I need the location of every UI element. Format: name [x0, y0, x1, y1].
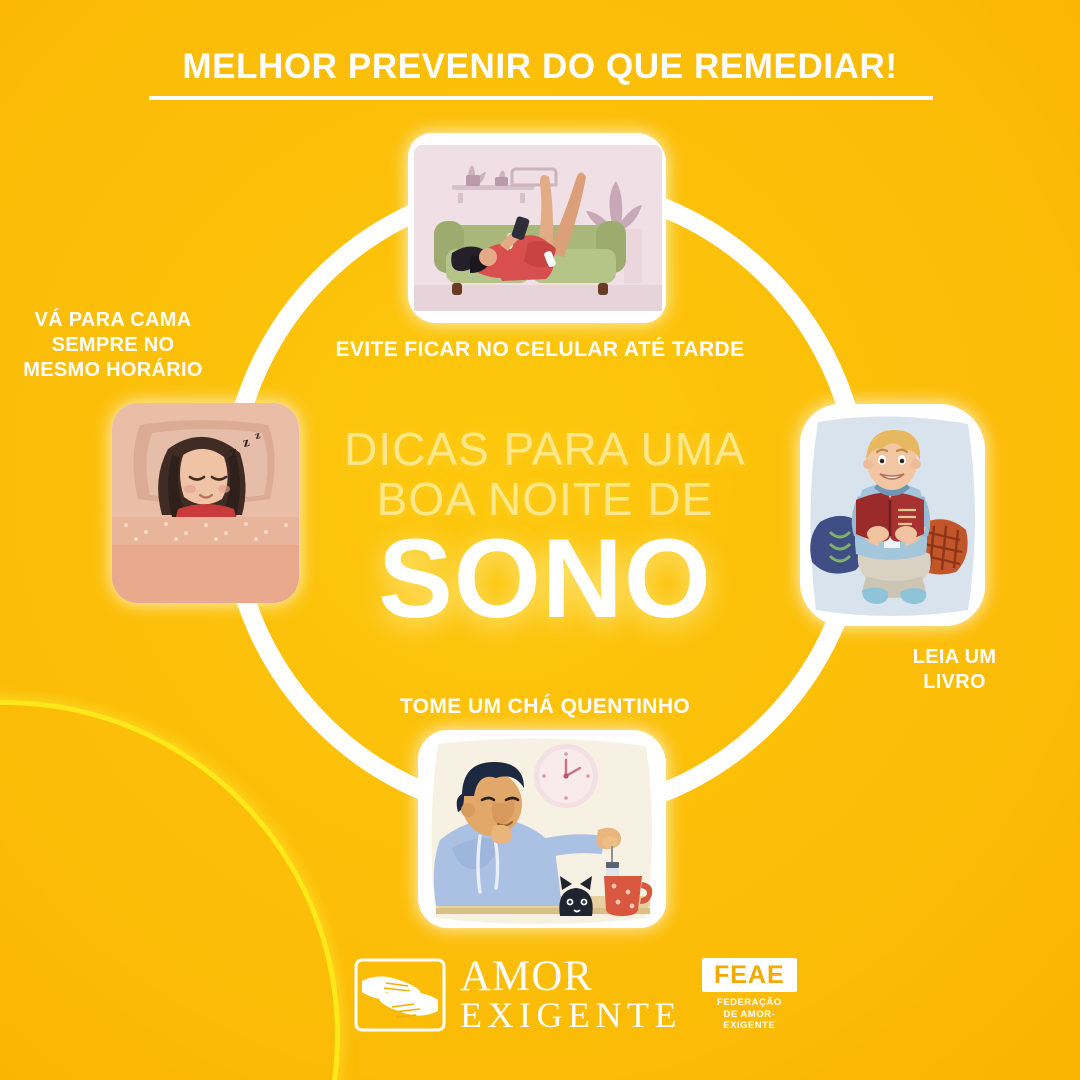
tip-label-right-line1: LEIA UM: [872, 645, 1037, 670]
decorative-arc-bright: [0, 683, 357, 1080]
couch-phone-icon: [408, 133, 666, 323]
two-hands-icon: [352, 955, 448, 1035]
center-headline: SONO: [300, 526, 790, 632]
illustration-card-phone: [408, 133, 666, 323]
illustration-card-book: [800, 404, 985, 626]
illustration-card-tea: [418, 730, 666, 928]
sleeping-bed-icon: z z z: [112, 403, 299, 603]
tip-label-top: EVITE FICAR NO CELULAR ATÉ TARDE: [285, 337, 795, 363]
tip-label-right: LEIA UM LIVRO: [872, 645, 1037, 695]
tip-label-right-line2: LIVRO: [872, 670, 1037, 695]
center-line-1: DICAS PARA UMA: [300, 425, 790, 475]
illustration-card-sleep: z z z: [112, 403, 299, 603]
feae-subtitle-line2: DE AMOR-EXIGENTE: [702, 1009, 797, 1032]
tip-label-left-line3: MESMO HORÁRIO: [5, 358, 221, 383]
tea-cup-icon: [418, 730, 666, 928]
tip-label-left-line1: VÁ PARA CAMA: [5, 308, 221, 333]
logo-wordmark: AMOR EXIGENTE: [460, 957, 682, 1033]
center-headline-group: DICAS PARA UMA BOA NOITE DE SONO: [300, 425, 790, 633]
tip-label-bottom: TOME UM CHÁ QUENTINHO: [330, 694, 760, 720]
logo-exigente: EXIGENTE: [460, 997, 682, 1033]
tip-label-left: VÁ PARA CAMA SEMPRE NO MESMO HORÁRIO: [5, 308, 221, 382]
scene-woman-sleeping: z z z: [112, 403, 299, 603]
footer-logo: AMOR EXIGENTE FEAE FEDERAÇÃO DE AMOR-EXI…: [352, 948, 742, 1042]
scene-woman-on-couch: [408, 133, 666, 323]
title-underline: [149, 96, 933, 100]
feae-subtitle: FEDERAÇÃO DE AMOR-EXIGENTE: [702, 997, 797, 1032]
feae-block: FEAE FEDERAÇÃO DE AMOR-EXIGENTE: [702, 958, 797, 1032]
scene-man-reading: [800, 404, 985, 626]
tip-label-left-line2: SEMPRE NO: [5, 333, 221, 358]
reading-book-icon: [800, 404, 985, 626]
logo-amor: AMOR: [460, 957, 682, 997]
scene-man-making-tea: [418, 730, 666, 928]
feae-badge: FEAE: [702, 958, 797, 992]
page-title: MELHOR PREVENIR DO QUE REMEDIAR!: [0, 48, 1080, 87]
poster-canvas: MELHOR PREVENIR DO QUE REMEDIAR! DICAS P…: [0, 0, 1080, 1080]
feae-subtitle-line1: FEDERAÇÃO: [702, 997, 797, 1009]
